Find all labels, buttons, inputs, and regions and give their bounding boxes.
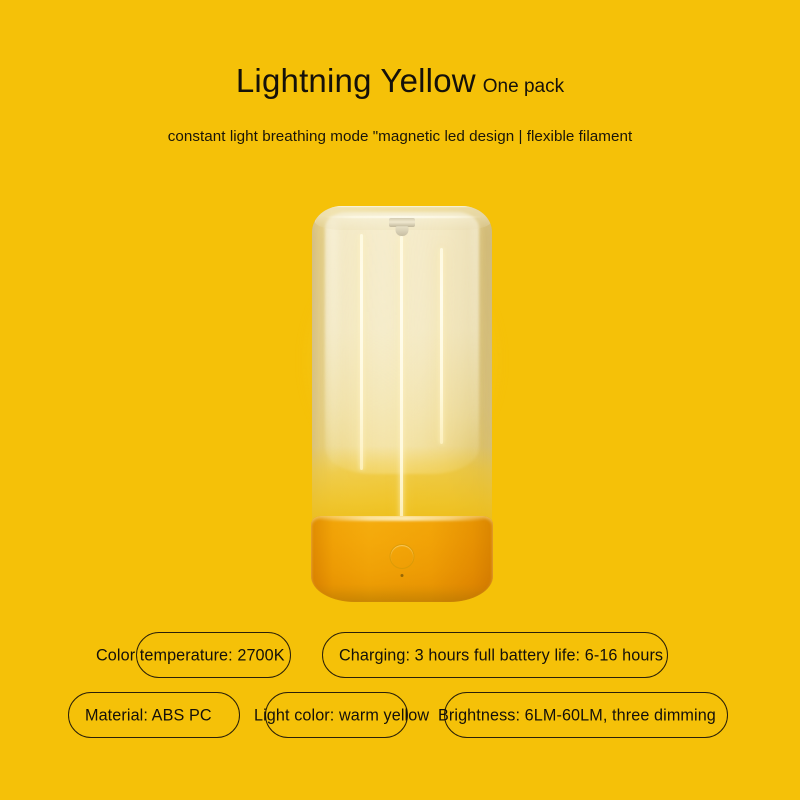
feature-label-color-temperature: Color temperature: 2700K bbox=[96, 647, 285, 666]
lamp-base-shadow bbox=[311, 584, 493, 602]
product-header: Lightning YellowOne pack bbox=[0, 62, 800, 100]
feature-label-light-color: Light color: warm yellow bbox=[254, 707, 429, 726]
product-subtitle: constant light breathing mode "magnetic … bbox=[0, 128, 800, 145]
feature-pill-row-1: Color temperature: 2700K Charging: 3 hou… bbox=[0, 632, 800, 680]
filament-right-icon bbox=[440, 248, 443, 444]
filament-left-icon bbox=[360, 234, 363, 470]
glass-sheen-left bbox=[328, 220, 338, 470]
feature-label-brightness: Brightness: 6LM-60LM, three dimming bbox=[438, 707, 716, 726]
power-button-icon[interactable] bbox=[390, 544, 415, 569]
glass-sheen-right bbox=[473, 222, 480, 466]
product-title-line: Lightning YellowOne pack bbox=[236, 62, 564, 100]
indicator-dot-icon bbox=[401, 574, 404, 577]
lamp-base-highlight bbox=[319, 516, 485, 521]
product-lamp-image bbox=[311, 206, 493, 602]
feature-pill-row-2: Material: ABS PC Light color: warm yello… bbox=[0, 692, 800, 740]
lamp-base bbox=[311, 516, 493, 602]
pack-quantity-label: One pack bbox=[483, 76, 564, 97]
lamp-glass-shade bbox=[312, 206, 492, 528]
filament-center-icon bbox=[400, 236, 403, 528]
product-image-card: Lightning YellowOne pack constant light … bbox=[0, 0, 800, 800]
page-title: Lightning Yellow bbox=[236, 62, 476, 99]
feature-label-charging: Charging: 3 hours full battery life: 6-1… bbox=[339, 647, 663, 666]
feature-label-material: Material: ABS PC bbox=[85, 707, 212, 726]
